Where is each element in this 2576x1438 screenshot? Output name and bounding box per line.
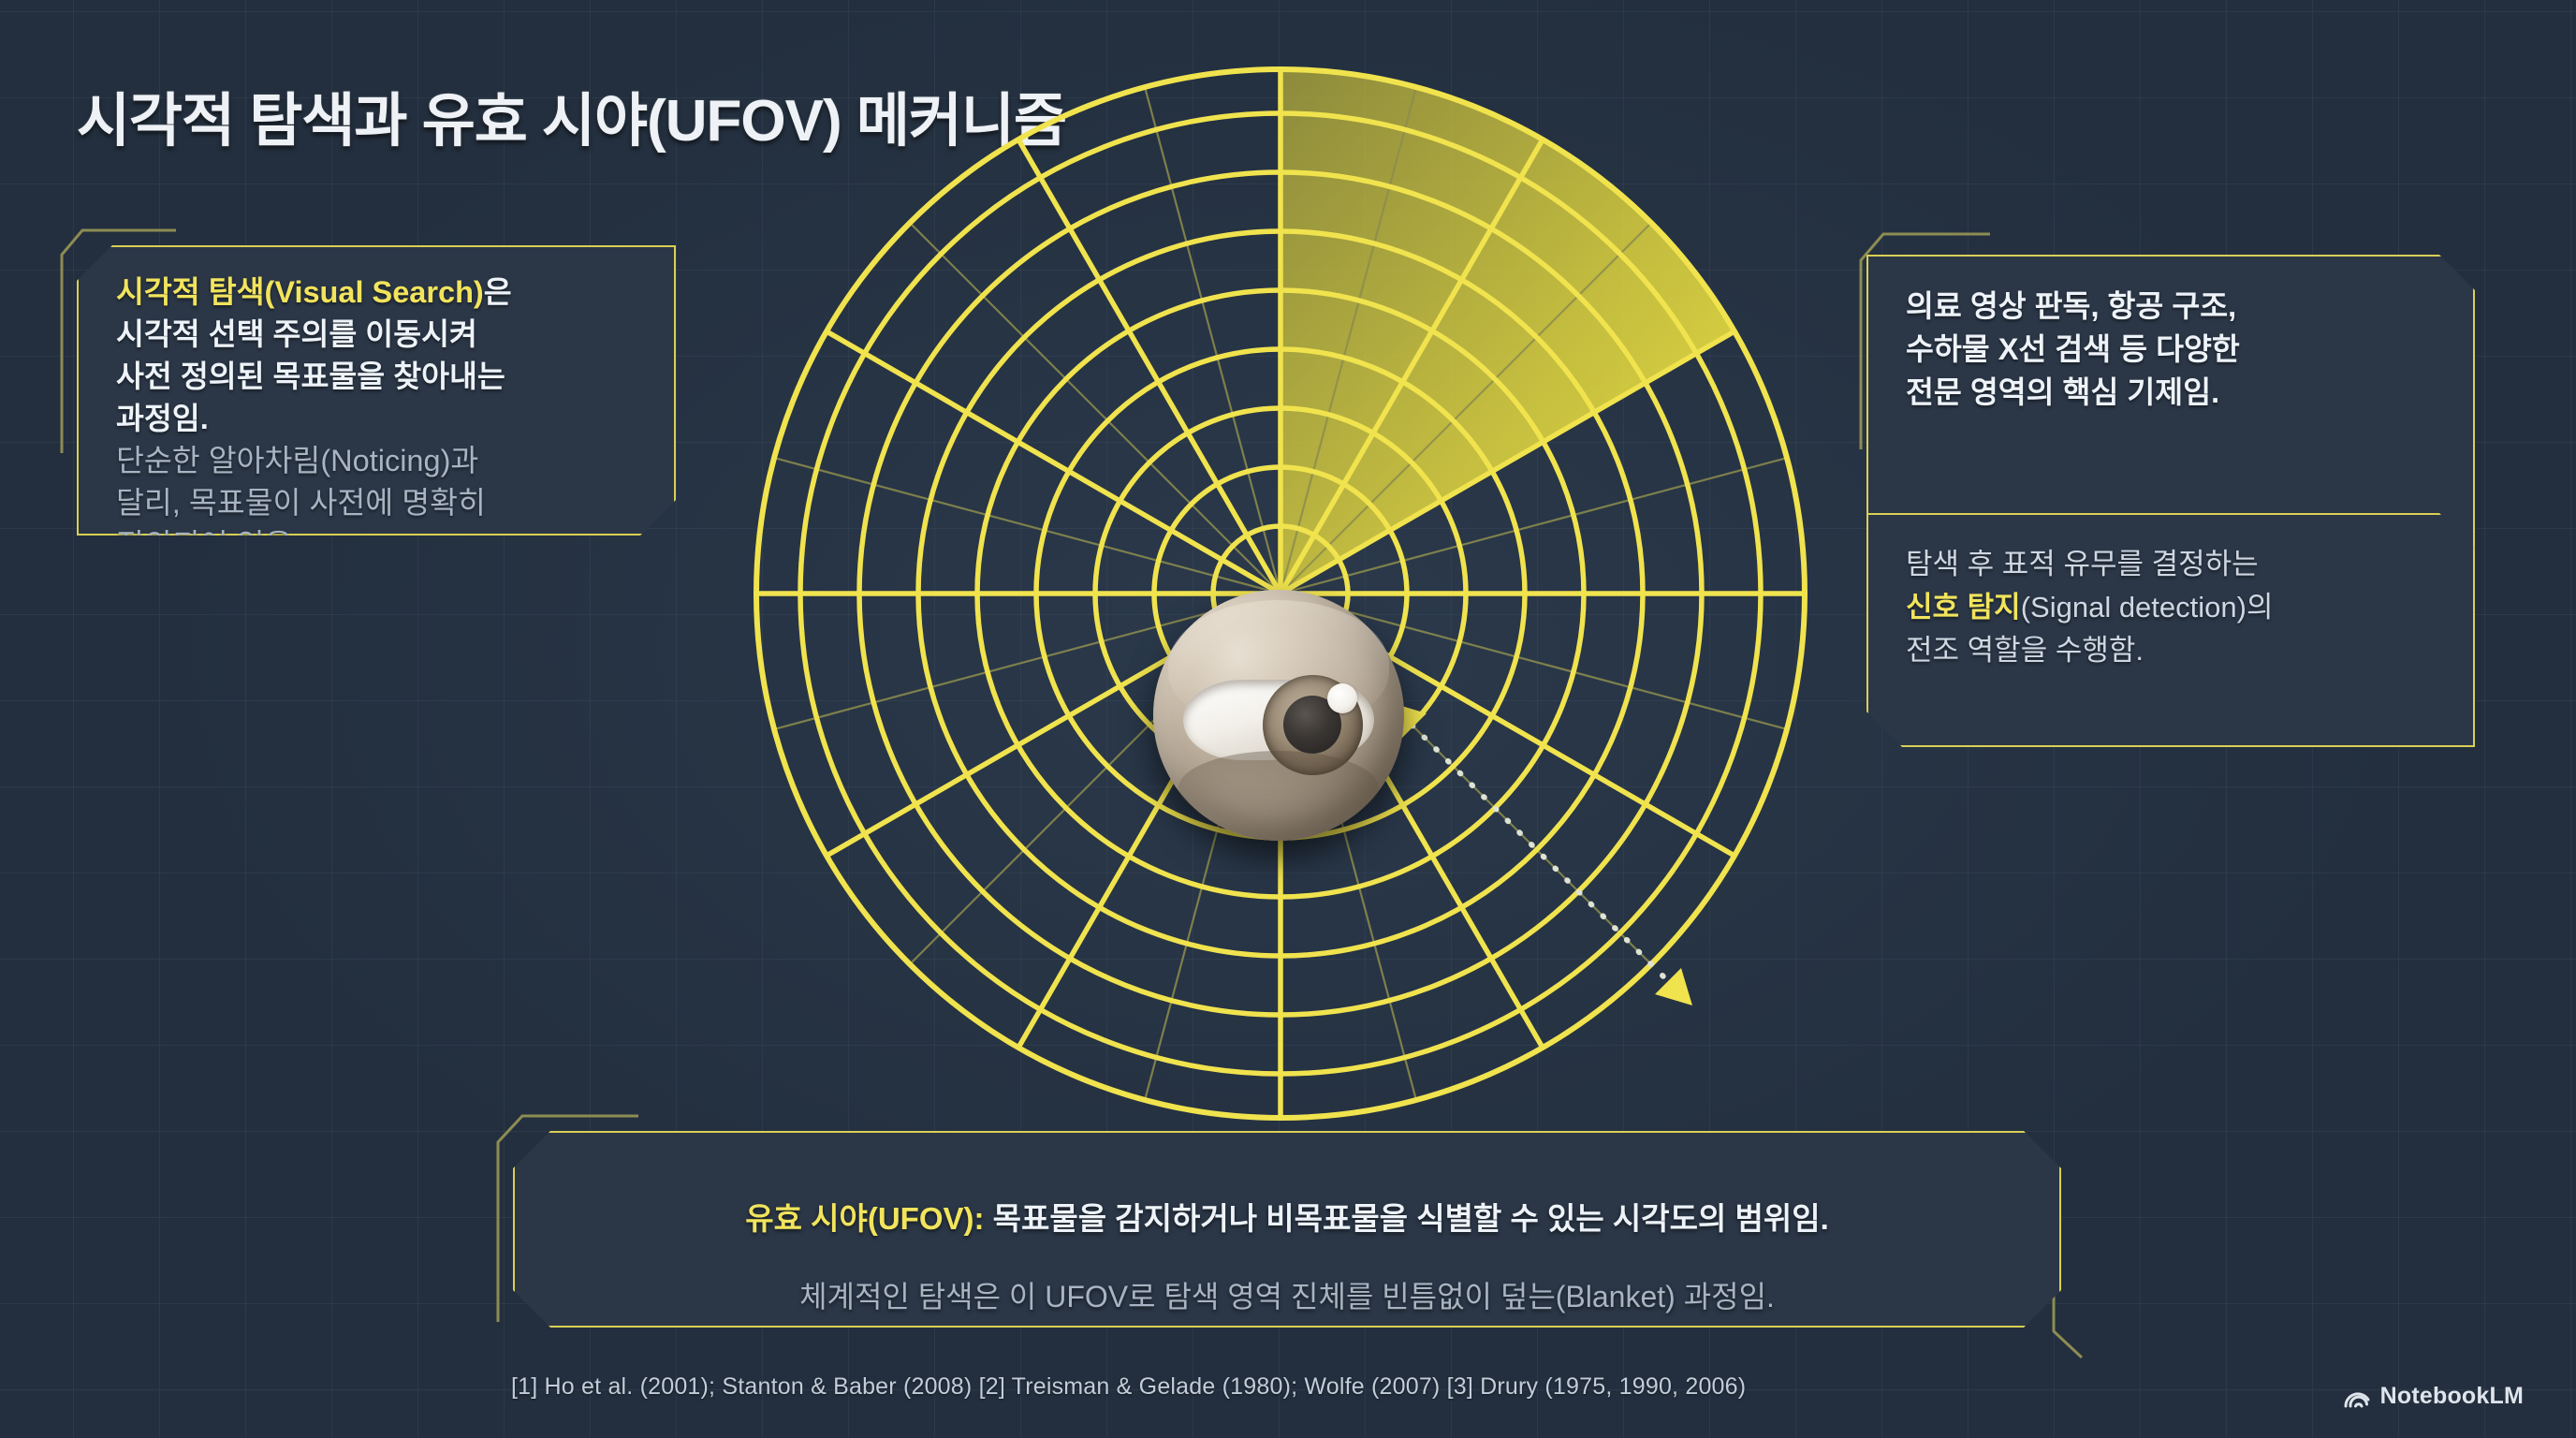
eye-glint — [1327, 683, 1357, 713]
card-right-line-3: 전문 영역의 핵심 기제임. — [1906, 371, 2441, 414]
eye-icon — [1153, 590, 1404, 841]
card-bottom-rest: 목표물을 감지하거나 비목표물을 식별할 수 있는 시각도의 범위임. — [985, 1201, 1829, 1236]
card-application-domains: 의료 영상 판독, 항공 구조, 수하물 X선 검색 등 다양한 전문 영역의 … — [1866, 255, 2475, 554]
notebooklm-brand: NotebookLM — [2343, 1383, 2524, 1410]
card-signal-detection: 탐색 후 표적 유무를 결정하는 신호 탐지(Signal detection)… — [1866, 513, 2475, 747]
citations-footnote: [1] Ho et al. (2001); Stanton & Baber (2… — [511, 1373, 1746, 1401]
notebooklm-wordmark: NotebookLM — [2380, 1383, 2524, 1410]
card-bottom-accent: 유효 시야(UFOV): — [745, 1201, 984, 1236]
card-right2-line-2: 신호 탐지(Signal detection)의 — [1906, 586, 2441, 629]
card-right-line-2: 수하물 X선 검색 등 다양한 — [1906, 328, 2441, 371]
card-left-line-7: 징의되어 있음. — [116, 524, 642, 566]
card-left-line-4: 과정임. — [116, 398, 642, 440]
ufov-highlight-wedge — [1281, 69, 1734, 594]
notebooklm-logo-icon — [2343, 1385, 2371, 1409]
card-left-line-6: 달리, 목표물이 사전에 명확히 — [116, 482, 642, 524]
card-left-accent-1: 시각적 탐색(Visual Search) — [116, 275, 484, 309]
eye-iris — [1263, 675, 1363, 775]
card-left-line-3: 사전 정의된 목표물을 찾아내는 — [116, 356, 642, 398]
card-left-line-2: 시각적 선택 주의를 이동시켜 — [116, 314, 642, 356]
slide-root: 시각적 탐색과 유효 시야(UFOV) 메커니즘 — [0, 0, 2576, 1438]
card-bottom-line-2: 체계적인 탐색은 이 UFOV로 탐색 영역 진체를 빈틈없이 덮는(Blank… — [552, 1273, 2022, 1320]
card-right2-rest: (Signal detection)의 — [2021, 591, 2274, 624]
card-right2-line-1: 탐색 후 표적 유무를 결정하는 — [1906, 543, 2441, 586]
card-bottom-line-1: 유효 시야(UFOV): 목표물을 감지하거나 비목표물을 식별할 수 있는 시… — [552, 1196, 2022, 1242]
card-ufov-definition: 유효 시야(UFOV): 목표물을 감지하거나 비목표물을 식별할 수 있는 시… — [513, 1131, 2061, 1328]
card-visual-search: 시각적 탐색(Visual Search)은 시각적 선택 주의를 이동시켜 사… — [77, 245, 676, 536]
card-left-line-1: 시각적 탐색(Visual Search)은 — [116, 271, 642, 314]
card-left-line-5: 단순한 알아차림(Noticing)과 — [116, 440, 642, 482]
card-left-rest-1: 은 — [484, 275, 512, 309]
card-right-line-1: 의료 영상 판독, 항공 구조, — [1906, 285, 2441, 328]
card-right2-accent: 신호 탐지 — [1906, 591, 2021, 624]
card-right2-line-3: 전조 역할을 수행함. — [1906, 629, 2441, 672]
